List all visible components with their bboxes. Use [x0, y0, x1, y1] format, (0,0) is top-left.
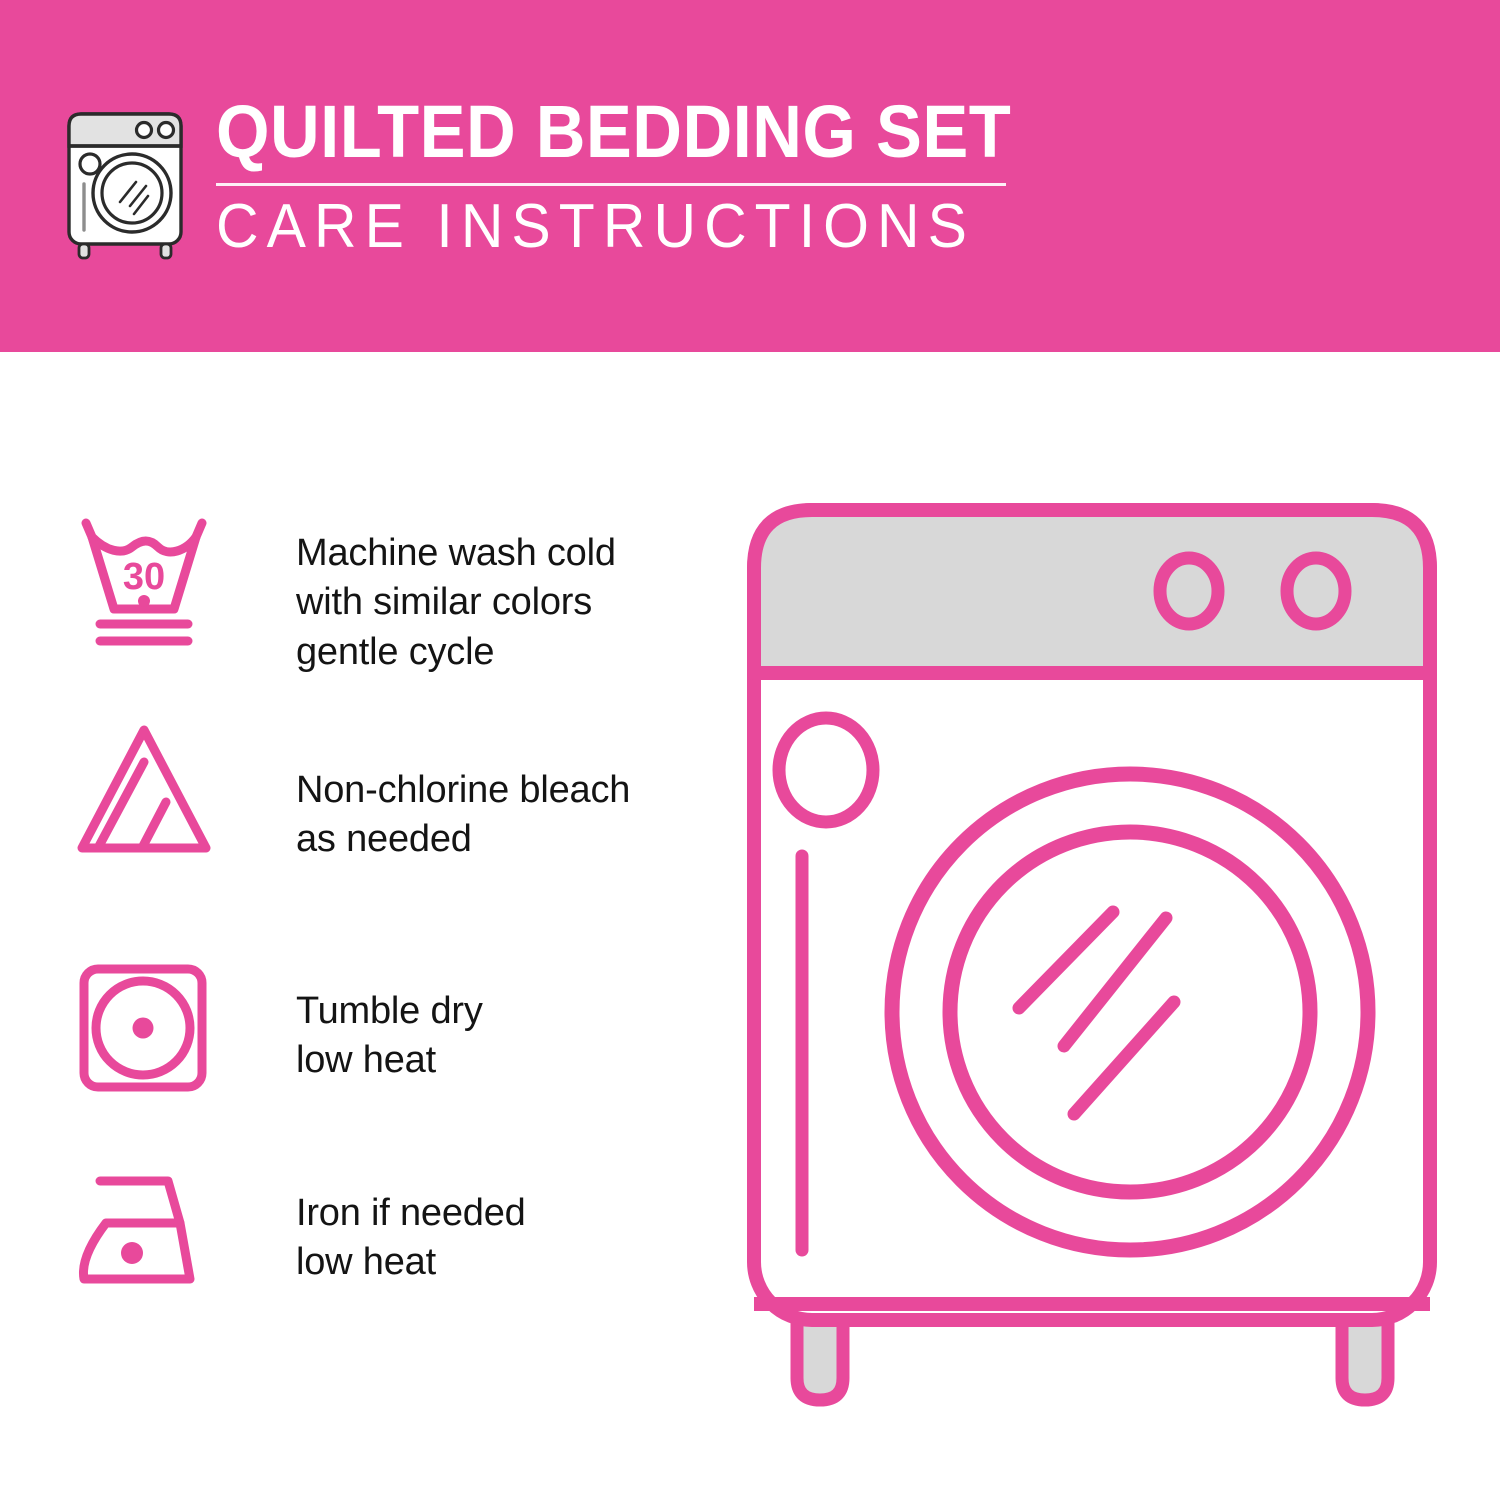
care-label-line: low heat: [296, 1036, 483, 1085]
care-instruction-list: 30 Machine wash cold with similar colors…: [70, 505, 710, 1345]
front-load-washing-machine-illustration: [742, 498, 1442, 1428]
care-label-iron: Iron if needed low heat: [240, 1165, 526, 1288]
care-item-machine-wash: 30 Machine wash cold with similar colors…: [70, 505, 710, 720]
care-label-line: Iron if needed: [296, 1189, 526, 1238]
care-label-line: Tumble dry: [296, 987, 483, 1036]
non-chlorine-bleach-triangle-icon: [70, 720, 240, 870]
care-label-line: gentle cycle: [296, 628, 616, 677]
care-label-line: as needed: [296, 815, 630, 864]
header-content: QUILTED BEDDING SET CARE INSTRUCTIONS: [62, 96, 1071, 262]
care-label-line: low heat: [296, 1238, 526, 1287]
care-label-line: with similar colors: [296, 578, 616, 627]
care-label-bleach: Non-chlorine bleach as needed: [240, 720, 630, 865]
tumble-dry-low-heat-icon: [70, 955, 240, 1105]
machine-wash-30-gentle-icon: 30: [70, 505, 240, 655]
header-titles: QUILTED BEDDING SET CARE INSTRUCTIONS: [216, 96, 1071, 258]
page-subtitle: CARE INSTRUCTIONS: [216, 196, 1028, 258]
care-item-tumble-dry: Tumble dry low heat: [70, 955, 710, 1165]
care-label-line: Non-chlorine bleach: [296, 766, 630, 815]
washing-machine-icon: [62, 96, 194, 262]
care-item-iron: Iron if needed low heat: [70, 1165, 710, 1345]
wash-temperature-value: 30: [123, 556, 165, 598]
care-label-machine-wash: Machine wash cold with similar colors ge…: [240, 505, 616, 677]
page-title: QUILTED BEDDING SET: [216, 96, 1011, 169]
care-label-tumble-dry: Tumble dry low heat: [240, 955, 483, 1086]
care-label-line: Machine wash cold: [296, 529, 616, 578]
title-divider: [216, 183, 1006, 186]
iron-low-heat-icon: [70, 1165, 240, 1315]
header-banner: QUILTED BEDDING SET CARE INSTRUCTIONS: [0, 0, 1500, 352]
care-item-bleach: Non-chlorine bleach as needed: [70, 720, 710, 955]
